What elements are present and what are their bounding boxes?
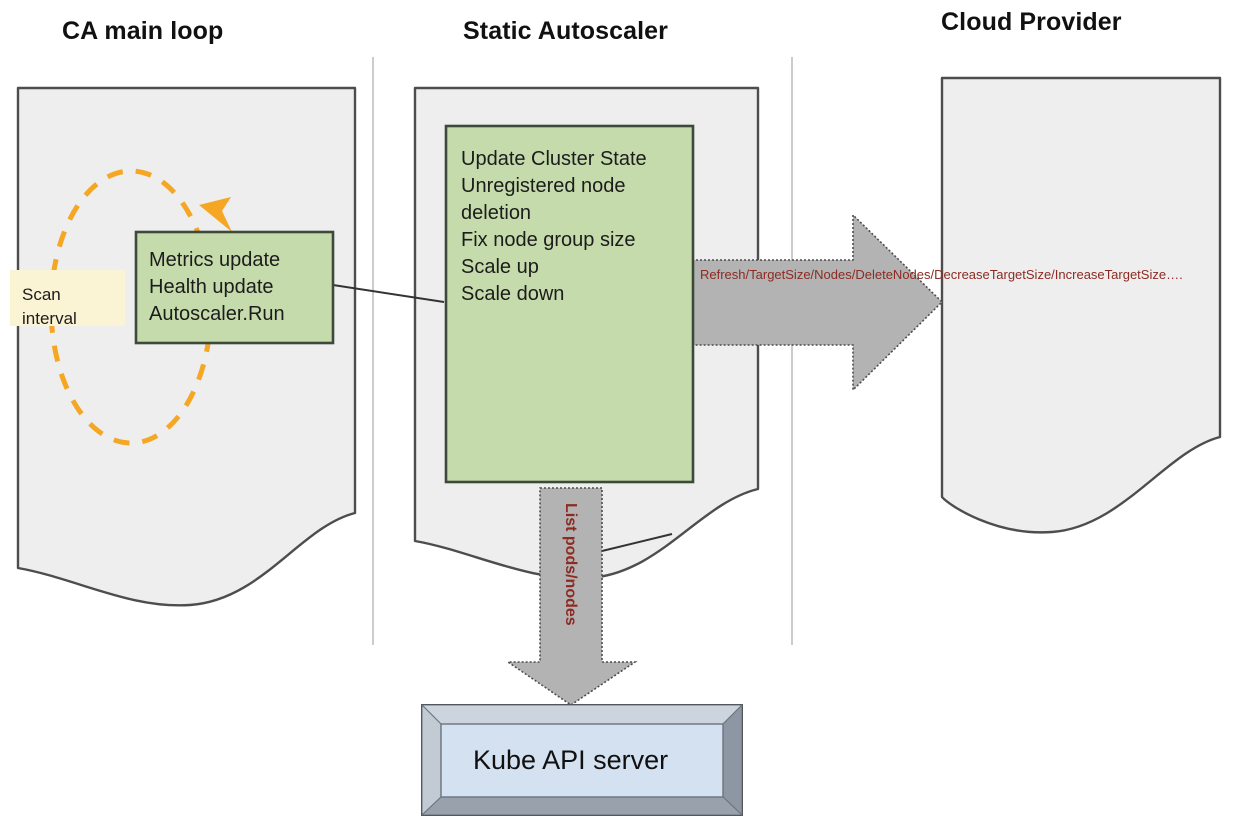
cloud-provider-arrow-label: Refresh/TargetSize/Nodes/DeleteNodes/Dec… xyxy=(700,267,896,283)
lane-shape-cloud-provider xyxy=(942,78,1220,532)
lane-title-ca-main-loop: CA main loop xyxy=(62,17,223,46)
static-autoscaler-box-label: Update Cluster State Unregistered node d… xyxy=(461,146,696,308)
diagram-graphics xyxy=(0,0,1240,838)
lane-title-cloud-provider: Cloud Provider xyxy=(941,8,1122,37)
lane-shape-ca-main-loop xyxy=(18,88,355,605)
ca-loop-box-label: Metrics update Health update Autoscaler.… xyxy=(149,247,334,328)
scan-note-label: Scan interval xyxy=(22,283,127,331)
kube-api-server-label: Kube API server xyxy=(473,745,668,776)
kube-api-arrow-label: List pods/nodes xyxy=(561,503,579,626)
diagram-canvas: CA main loop Static Autoscaler Cloud Pro… xyxy=(0,0,1240,838)
lane-title-static-autoscaler: Static Autoscaler xyxy=(463,17,668,46)
